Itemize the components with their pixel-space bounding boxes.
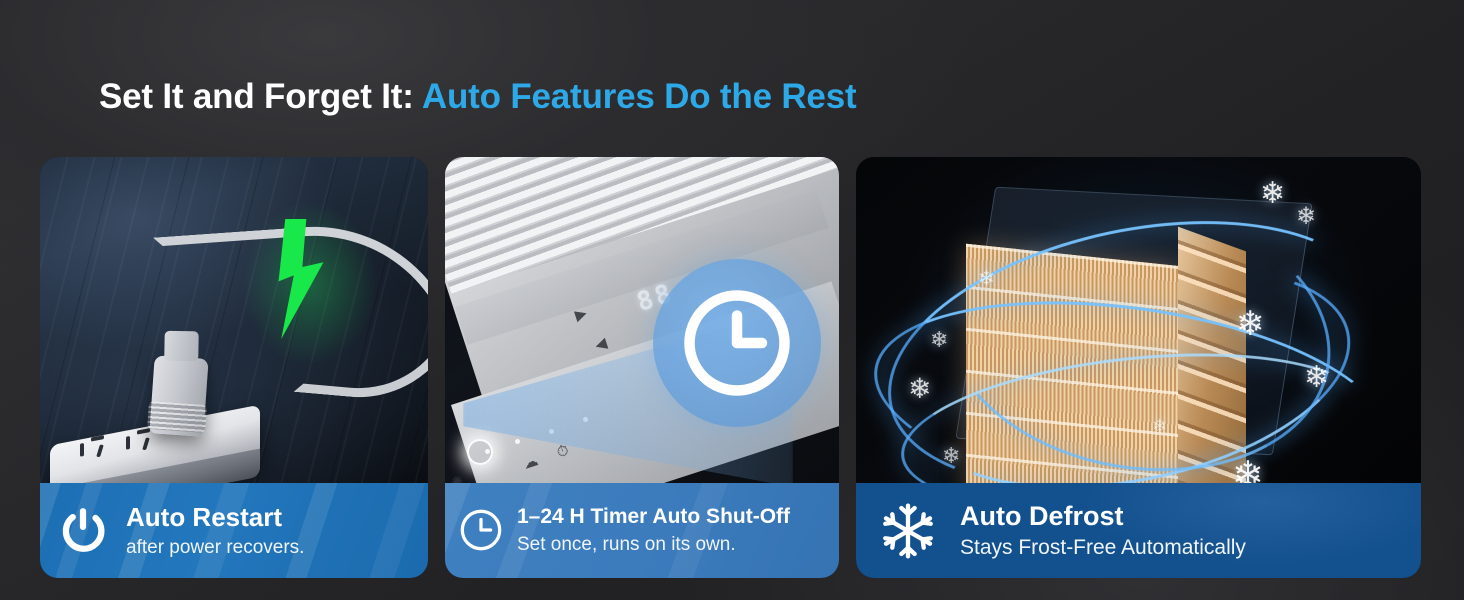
power-restart-icon <box>40 505 126 555</box>
auto-defrost-photo: ❄ ❄ ❄ ❄ ❄ ❄ ❄ ❄ ❄ ❄ <box>856 157 1421 483</box>
timer-subtitle: Set once, runs on its own. <box>517 534 790 556</box>
snowflake-decor-10: ❄ <box>1152 417 1167 435</box>
clock-icon <box>445 507 517 553</box>
timer-photo: 88 ✺ ☁ ⏱ ▶ ◀ <box>445 157 839 483</box>
fan-button-icon: ✺ <box>449 471 467 483</box>
clock-icon <box>677 283 797 403</box>
feature-card-auto-defrost[interactable]: ❄ ❄ ❄ ❄ ❄ ❄ ❄ ❄ ❄ ❄ <box>856 157 1421 578</box>
snowflake-decor-1: ❄ <box>1260 179 1285 209</box>
auto-defrost-text: Auto Defrost Stays Frost-Free Automatica… <box>960 501 1246 559</box>
feature-card-auto-restart[interactable]: Auto Restart after power recovers. <box>40 157 428 578</box>
feature-card-list: Auto Restart after power recovers. 88 ✺ <box>40 157 1425 578</box>
timer-title: 1–24 H Timer Auto Shut-Off <box>517 505 790 529</box>
auto-defrost-subtitle: Stays Frost-Free Automatically <box>960 536 1246 560</box>
page-title: Set It and Forget It: Auto Features Do t… <box>99 78 856 117</box>
auto-restart-caption: Auto Restart after power recovers. <box>40 483 428 578</box>
snowflake-decor-8: ❄ <box>942 445 960 467</box>
snowflake-decor-9: ❄ <box>1232 457 1264 483</box>
panel-indicator-2 <box>515 439 520 444</box>
timer-text: 1–24 H Timer Auto Shut-Off Set once, run… <box>517 505 790 555</box>
timer-caption: 1–24 H Timer Auto Shut-Off Set once, run… <box>445 483 839 578</box>
auto-restart-title: Auto Restart <box>126 503 304 532</box>
page-title-lead: Set It and Forget It: <box>99 77 414 116</box>
clock-callout-bubble <box>653 259 821 427</box>
feature-card-timer[interactable]: 88 ✺ ☁ ⏱ ▶ ◀ <box>445 157 839 578</box>
page-title-accent: Auto Features Do the Rest <box>422 77 857 116</box>
snowflake-decor-7: ❄ <box>1304 363 1329 393</box>
auto-defrost-title: Auto Defrost <box>960 501 1246 531</box>
plug-ribs <box>147 401 207 433</box>
snowflake-decor-6: ❄ <box>1236 307 1265 341</box>
auto-restart-text: Auto Restart after power recovers. <box>126 503 304 559</box>
promo-banner: Set It and Forget It: Auto Features Do t… <box>0 0 1464 600</box>
auto-defrost-caption: Auto Defrost Stays Frost-Free Automatica… <box>856 483 1421 578</box>
snowflake-decor-2: ❄ <box>1296 205 1316 229</box>
snowflake-decor-3: ❄ <box>978 269 995 289</box>
snowflake-decor-5: ❄ <box>908 375 931 403</box>
snowflake-decor-4: ❄ <box>930 329 948 351</box>
auto-restart-subtitle: after power recovers. <box>126 537 304 559</box>
snowflake-icon <box>856 502 960 560</box>
auto-restart-photo <box>40 157 428 483</box>
